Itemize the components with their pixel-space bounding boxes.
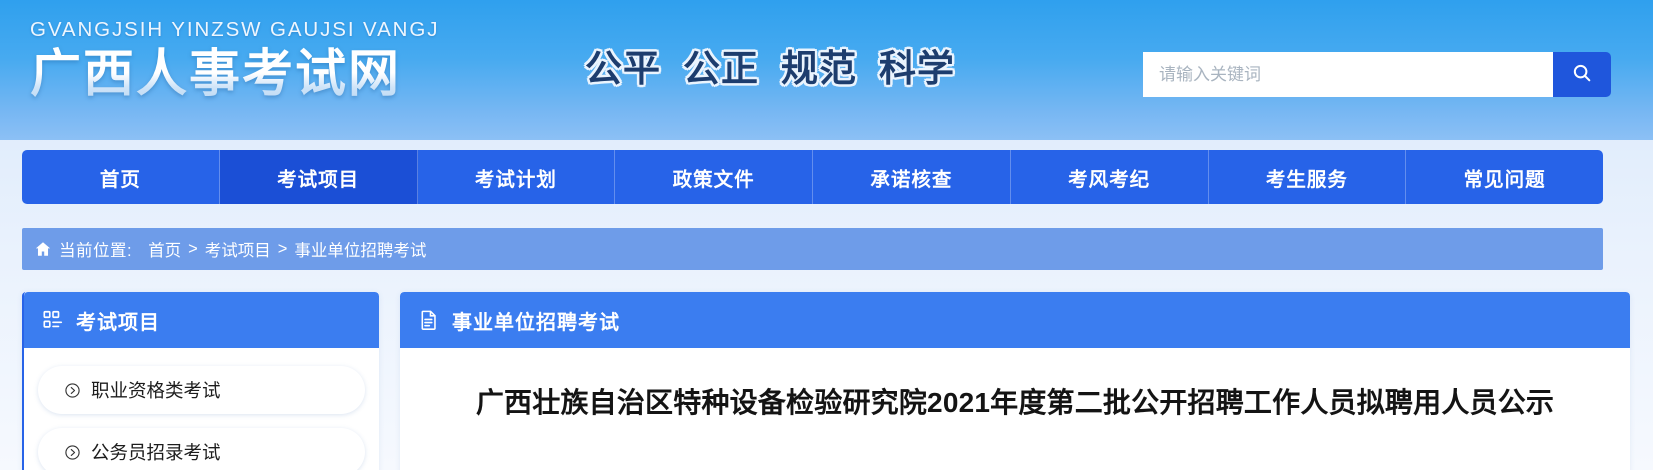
sidebar-title: 考试项目 <box>76 306 160 335</box>
home-icon <box>34 240 52 258</box>
sidebar-item-label: 职业资格类考试 <box>91 377 221 403</box>
sidebar-item-label: 公务员招录考试 <box>91 439 221 465</box>
logo-chinese-text: 广西人事考试网 <box>30 44 450 104</box>
sidebar-panel: 考试项目 职业资格类考试 公务员招录考试 <box>22 292 379 470</box>
breadcrumb-item-current[interactable]: 事业单位招聘考试 <box>294 237 426 261</box>
slogan-word-4: 科学 <box>879 48 955 89</box>
sidebar-item-civil-servant-recruitment[interactable]: 公务员招录考试 <box>38 428 365 470</box>
nav-item-exam-projects[interactable]: 考试项目 <box>220 150 418 204</box>
nav-item-policy-docs[interactable]: 政策文件 <box>615 150 813 204</box>
sidebar-menu: 职业资格类考试 公务员招录考试 <box>24 348 379 470</box>
nav-item-exam-plan[interactable]: 考试计划 <box>418 150 616 204</box>
content-panel: 事业单位招聘考试 广西壮族自治区特种设备检验研究院2021年度第二批公开招聘工作… <box>400 292 1630 470</box>
site-header: GVANGJSIH YINZSW GAUJSI VANGJ 广西人事考试网 公平… <box>0 0 1653 140</box>
logo-pinyin-text: GVANGJSIH YINZSW GAUJSI VANGJ <box>30 18 450 42</box>
search-button[interactable] <box>1553 52 1611 97</box>
slogan-word-1: 公平 <box>585 48 661 89</box>
article-title[interactable]: 广西壮族自治区特种设备检验研究院2021年度第二批公开招聘工作人员拟聘用人员公示 <box>444 382 1586 424</box>
breadcrumb-separator-2: > <box>278 240 288 259</box>
nav-item-exam-discipline[interactable]: 考风考纪 <box>1011 150 1209 204</box>
content-title: 事业单位招聘考试 <box>452 306 620 335</box>
nav-item-candidate-service[interactable]: 考生服务 <box>1209 150 1407 204</box>
chevron-right-circle-icon <box>64 444 81 461</box>
search-box <box>1143 52 1611 97</box>
site-slogan: 公平公正规范科学 <box>585 46 955 92</box>
slogan-word-2: 公正 <box>683 48 759 89</box>
content-header: 事业单位招聘考试 <box>400 292 1630 348</box>
sidebar-item-vocational-qualification[interactable]: 职业资格类考试 <box>38 366 365 414</box>
nav-item-home[interactable]: 首页 <box>22 150 220 204</box>
site-logo[interactable]: GVANGJSIH YINZSW GAUJSI VANGJ 广西人事考试网 <box>30 18 450 104</box>
grid-list-icon <box>42 309 64 331</box>
breadcrumb-item-exam-projects[interactable]: 考试项目 <box>205 237 271 261</box>
search-icon <box>1571 62 1593 87</box>
search-input[interactable] <box>1143 52 1553 97</box>
nav-item-faq[interactable]: 常见问题 <box>1406 150 1603 204</box>
document-icon <box>418 309 440 331</box>
nav-item-commitment-check[interactable]: 承诺核查 <box>813 150 1011 204</box>
breadcrumb-separator-1: > <box>188 240 198 259</box>
chevron-right-circle-icon <box>64 382 81 399</box>
slogan-word-3: 规范 <box>781 48 857 89</box>
breadcrumb-label: 当前位置: <box>59 237 132 261</box>
main-navigation: 首页 考试项目 考试计划 政策文件 承诺核查 考风考纪 考生服务 常见问题 <box>22 150 1603 204</box>
breadcrumb-item-home[interactable]: 首页 <box>148 237 181 261</box>
sidebar-header: 考试项目 <box>24 292 379 348</box>
breadcrumb: 当前位置: 首页 > 考试项目 > 事业单位招聘考试 <box>22 228 1603 270</box>
